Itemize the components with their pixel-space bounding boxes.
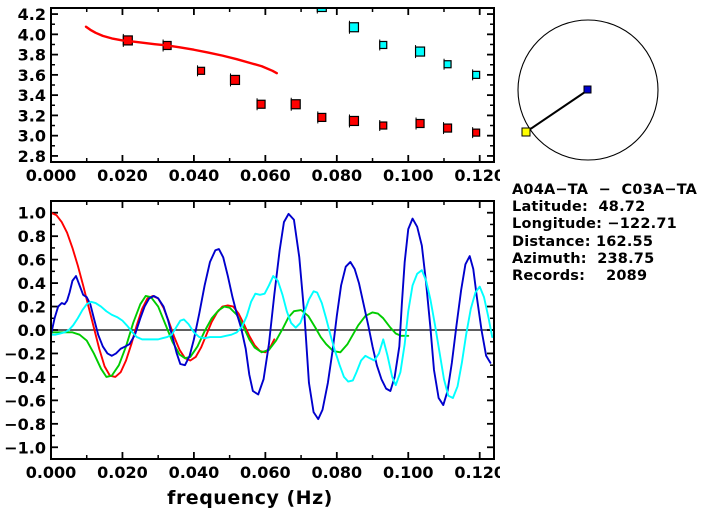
x-tick-label: 0.100: [383, 463, 434, 482]
data-point-square: [317, 2, 326, 11]
x-tick-label: 0.080: [312, 463, 363, 482]
y-tick-label: 0.6: [18, 251, 46, 270]
metadata-row-longitude: Longitude: −122.71: [512, 216, 703, 233]
y-tick-label: 0.4: [18, 274, 46, 293]
data-point-square: [416, 47, 425, 56]
x-tick-label: 0.100: [383, 166, 434, 185]
metadata-row-records: Records: 2089: [512, 268, 703, 285]
spectra-plot-panel: 0.0000.0200.0400.0600.0800.1000.120−1.0−…: [0, 195, 500, 519]
data-point-square: [473, 129, 480, 136]
data-point-square: [349, 23, 358, 32]
y-tick-label: −0.2: [4, 344, 46, 363]
data-point-square: [318, 113, 326, 121]
x-tick-label: 0.120: [454, 463, 500, 482]
longitude-text: Longitude: −122.71: [512, 216, 677, 232]
station-pair-label: A04A−TA − C03A−TA: [512, 182, 703, 199]
station-center-dot: [584, 86, 591, 93]
station-metadata: A04A−TA − C03A−TA Latitude: 48.72 Longit…: [512, 182, 703, 285]
y-tick-label: 0.2: [18, 298, 46, 317]
data-point-square: [291, 100, 300, 109]
data-point-square: [444, 61, 451, 68]
x-tick-label: 0.000: [26, 463, 77, 482]
x-tick-label: 0.080: [312, 166, 363, 185]
y-tick-label: 0.8: [18, 227, 46, 246]
records-text: Records: 2089: [512, 268, 647, 284]
y-tick-label: 2.8: [18, 147, 46, 166]
data-point-square: [349, 116, 358, 125]
x-tick-label: 0.040: [169, 463, 220, 482]
x-tick-label: 0.120: [454, 166, 500, 185]
plot-frame: [51, 8, 494, 162]
data-point-square: [416, 120, 424, 128]
data-point-square: [380, 41, 387, 48]
y-tick-label: −1.0: [4, 438, 46, 457]
y-tick-label: 3.0: [18, 127, 46, 146]
station-azimuth-square: [522, 128, 530, 136]
x-tick-label: 0.060: [240, 166, 291, 185]
y-tick-label: 3.2: [18, 106, 46, 125]
y-tick-label: 3.8: [18, 46, 46, 65]
azimuth-path-line: [526, 90, 588, 132]
data-point-square: [444, 124, 452, 132]
azimuth-circle-panel: [500, 0, 703, 180]
spectra-plot-svg: 0.0000.0200.0400.0600.0800.1000.120−1.0−…: [0, 195, 500, 485]
data-point-square: [380, 122, 387, 129]
metadata-row-latitude: Latitude: 48.72: [512, 199, 703, 216]
y-tick-label: 3.6: [18, 66, 46, 85]
x-axis-title: frequency (Hz): [0, 487, 500, 509]
x-tick-label: 0.020: [97, 463, 148, 482]
dispersion-plot-panel: 0.0000.0200.0400.0600.0800.1000.1202.83.…: [0, 0, 500, 190]
data-point-square: [257, 100, 265, 108]
data-point-square: [198, 67, 205, 74]
x-tick-label: 0.060: [240, 463, 291, 482]
y-tick-label: −0.6: [4, 391, 46, 410]
data-point-square: [230, 75, 239, 84]
metadata-row-distance: Distance: 162.55: [512, 234, 703, 251]
y-tick-label: −0.4: [4, 368, 46, 387]
azimuth-circle-svg: [500, 0, 703, 180]
y-tick-label: −0.8: [4, 415, 46, 434]
y-tick-label: 0.0: [18, 321, 46, 340]
y-tick-label: 3.4: [18, 86, 46, 105]
x-tick-label: 0.040: [169, 166, 220, 185]
y-tick-label: 1.0: [18, 204, 46, 223]
metadata-row-azimuth: Azimuth: 238.75: [512, 251, 703, 268]
dispersion-plot-svg: 0.0000.0200.0400.0600.0800.1000.1202.83.…: [0, 0, 500, 190]
latitude-text: Latitude: 48.72: [512, 199, 645, 215]
x-tick-label: 0.000: [26, 166, 77, 185]
x-tick-label: 0.020: [97, 166, 148, 185]
data-point-square: [473, 71, 480, 78]
y-tick-label: 4.0: [18, 25, 46, 44]
y-tick-label: 4.2: [18, 5, 46, 24]
distance-text: Distance: 162.55: [512, 234, 653, 250]
azimuth-text: Azimuth: 238.75: [512, 251, 654, 267]
